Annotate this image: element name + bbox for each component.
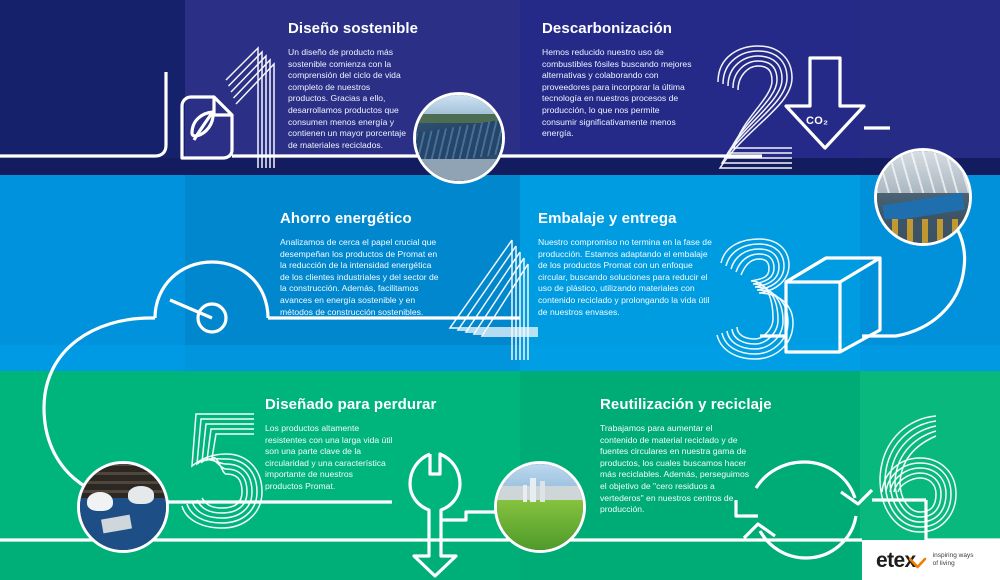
- step-5-body: Los productos altamente resistentes con …: [265, 423, 393, 493]
- step-5-panel: Diseñado para perdurar Los productos alt…: [265, 396, 445, 493]
- step-4-title: Ahorro energético: [280, 210, 460, 228]
- step-2-panel: Descarbonización Hemos reducido nuestro …: [542, 20, 717, 140]
- step-5-title: Diseñado para perdurar: [265, 396, 445, 414]
- step-1-panel: Diseño sostenible Un diseño de producto …: [288, 20, 448, 151]
- etex-tagline: inspiring ways of living: [933, 552, 974, 568]
- factory-interior-photo: [874, 148, 972, 246]
- etex-tagline-line2: of living: [933, 560, 974, 568]
- step-3-title: Embalaje y entrega: [538, 210, 728, 228]
- step-6-title: Reutilización y reciclaje: [600, 396, 785, 414]
- step-3-body: Nuestro compromiso no termina en la fase…: [538, 237, 713, 318]
- step-4-panel: Ahorro energético Analizamos de cerca el…: [280, 210, 460, 318]
- step-2-title: Descarbonización: [542, 20, 717, 38]
- etex-swoosh-icon: [909, 557, 926, 569]
- workers-tablet-photo: [77, 461, 169, 553]
- step-1-title: Diseño sostenible: [288, 20, 448, 38]
- step-4-body: Analizamos de cerca el papel crucial que…: [280, 237, 440, 318]
- etex-logo: etex inspiring ways of living: [862, 540, 1000, 580]
- step-3-panel: Embalaje y entrega Nuestro compromiso no…: [538, 210, 728, 318]
- etex-tagline-line1: inspiring ways: [933, 552, 974, 560]
- step-6-body: Trabajamos para aumentar el contenido de…: [600, 423, 750, 516]
- sustainability-infographic: CO₂ Diseño sostenible Un diseño de produ…: [0, 0, 1000, 580]
- step-6-panel: Reutilización y reciclaje Trabajamos par…: [600, 396, 785, 516]
- green-field-photo: [494, 461, 586, 553]
- co2-label: CO₂: [806, 115, 828, 127]
- step-2-body: Hemos reducido nuestro uso de combustibl…: [542, 47, 692, 140]
- step-1-body: Un diseño de producto más sostenible com…: [288, 47, 408, 151]
